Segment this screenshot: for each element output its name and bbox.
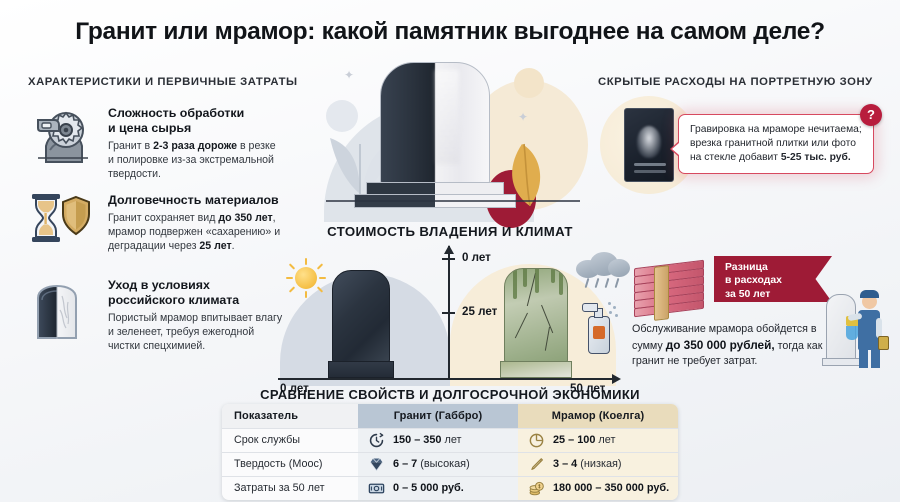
y-tick-label-0: 0 лет bbox=[462, 251, 491, 264]
page-title: Гранит или мрамор: какой памятник выгодн… bbox=[0, 18, 900, 46]
feature-block-climate-care: Уход в условиях российского климата Пори… bbox=[26, 276, 284, 353]
infographic-canvas: Гранит или мрамор: какой памятник выгодн… bbox=[0, 0, 900, 502]
value-bold: 180 000 – 350 000 руб. bbox=[553, 482, 669, 494]
row-marble-value: 25 – 100 лет bbox=[518, 428, 678, 452]
value-bold: 150 – 350 bbox=[393, 434, 441, 446]
sparkle-icon: ✦ bbox=[344, 68, 354, 82]
desc-part: Гранит сохраняет вид bbox=[108, 212, 218, 224]
engraved-portrait-icon bbox=[637, 126, 661, 158]
bucket-icon bbox=[878, 336, 889, 350]
desc-part: . bbox=[232, 240, 235, 252]
feature-desc: Гранит в 2-3 раза дороже в резке и полир… bbox=[108, 139, 284, 181]
y-tick-label-25: 25 лет bbox=[462, 305, 497, 318]
hero-monument-illustration: ✦ ✦ bbox=[318, 52, 588, 232]
desc-highlight: до 350 лет bbox=[218, 212, 272, 224]
portrait-granite-card bbox=[624, 108, 674, 182]
ownership-cost-chart: 0 лет 25 лет 0 лет 50 лет bbox=[272, 246, 624, 386]
table-col-header-granite: Гранит (Габбро) bbox=[358, 404, 518, 428]
callout-line-3: на стекле добавит bbox=[690, 152, 781, 163]
hidden-cost-callout: ? Гравировка на мраморе нечитаема; врезк… bbox=[678, 114, 874, 174]
cash-stack-icon bbox=[634, 262, 708, 320]
spray-label bbox=[593, 326, 605, 339]
row-label: Твердость (Моос) bbox=[222, 452, 358, 476]
engraved-text-line bbox=[634, 170, 666, 173]
y-tick-0 bbox=[442, 258, 455, 260]
callout-tail bbox=[670, 141, 679, 157]
difference-ribbon: Разница в расходах за 50 лет bbox=[714, 256, 832, 302]
sun-core bbox=[295, 267, 317, 289]
granite-base bbox=[328, 361, 394, 378]
feature-title: Долговечность материалов bbox=[108, 193, 284, 208]
table-col-header-marble: Мрамор (Коелга) bbox=[518, 404, 678, 428]
clock-icon bbox=[368, 432, 385, 449]
monument-stele bbox=[380, 62, 490, 184]
ribbon-line-2: в расходах bbox=[725, 274, 816, 287]
comparison-table: Показатель Гранит (Габбро) Мрамор (Коелг… bbox=[222, 404, 678, 500]
hourglass-shield-icon bbox=[26, 191, 98, 253]
feature-title: Уход в условиях российского климата bbox=[108, 278, 284, 308]
coins-icon bbox=[528, 480, 545, 497]
worker-cleaning-illustration bbox=[826, 284, 892, 370]
diamond-icon bbox=[368, 456, 385, 473]
y-tick-25 bbox=[442, 312, 455, 314]
spray-bottle-icon bbox=[584, 300, 618, 356]
worker-leg-right bbox=[871, 348, 880, 368]
desc-part: Гранит в bbox=[108, 140, 153, 152]
spray-trigger bbox=[582, 303, 598, 312]
feature-block-durability: Долговечность материалов Гранит сохраняе… bbox=[26, 191, 284, 253]
worker-arm-right bbox=[876, 318, 882, 338]
rain-cloud-icon bbox=[576, 250, 632, 284]
marble-stele-degraded bbox=[504, 268, 568, 362]
granite-monument-graphic bbox=[328, 270, 394, 380]
cash-band bbox=[654, 265, 669, 321]
marble-monument-graphic bbox=[500, 268, 572, 380]
hero-monument bbox=[380, 62, 490, 202]
row-granite-value: 150 – 350 лет bbox=[358, 428, 518, 452]
chart-x-axis bbox=[278, 378, 618, 380]
feature-block-processing: Сложность обработки и цена сырья Гранит … bbox=[26, 104, 284, 181]
value-bold: 25 – 100 bbox=[553, 434, 595, 446]
chart-title: СТОИМОСТЬ ВЛАДЕНИЯ И КЛИМАТ bbox=[270, 224, 630, 239]
section-header-characteristics: ХАРАКТЕРИСТИКИ И ПЕРВИЧНЫЕ ЗАТРАТЫ bbox=[28, 76, 298, 88]
ribbon-line-1: Разница bbox=[725, 261, 816, 274]
callout-highlight: 5-25 тыс. руб. bbox=[781, 152, 851, 163]
table-col-header-metric: Показатель bbox=[222, 404, 358, 428]
pencil-icon bbox=[528, 456, 545, 473]
ground-line bbox=[326, 200, 580, 202]
value-bold: 3 – 4 bbox=[553, 458, 577, 470]
stone-base bbox=[822, 358, 860, 366]
desc-highlight: 2-3 раза дороже bbox=[153, 140, 237, 152]
row-marble-value: 180 000 – 350 000 руб. bbox=[518, 476, 678, 500]
ribbon-line-3: за 50 лет bbox=[725, 288, 816, 301]
money-text-highlight: до 350 000 рублей, bbox=[666, 338, 775, 352]
value-bold: 0 – 5 000 руб. bbox=[393, 482, 464, 494]
desc-highlight: 25 лет bbox=[199, 240, 231, 252]
value-tail: лет bbox=[595, 434, 615, 446]
granite-stele bbox=[332, 270, 390, 362]
row-label: Срок службы bbox=[222, 428, 358, 452]
table-header-row: Показатель Гранит (Габбро) Мрамор (Коелг… bbox=[222, 404, 678, 428]
row-label: Затраты за 50 лет bbox=[222, 476, 358, 500]
marble-base-degraded bbox=[500, 361, 572, 378]
water-streak bbox=[846, 326, 858, 340]
engraved-text-line bbox=[634, 163, 666, 166]
maintenance-cost-text: Обслуживание мрамора обойдется в сумму д… bbox=[632, 322, 828, 370]
row-granite-value: 0 – 5 000 руб. bbox=[358, 476, 518, 500]
table-row: Твердость (Моос) 6 – 7 (высокая) bbox=[222, 452, 678, 476]
section-header-hidden-costs: СКРЫТЫЕ РАСХОДЫ НА ПОРТРЕТНУЮ ЗОНУ bbox=[598, 76, 873, 88]
value-tail: (низкая) bbox=[577, 458, 621, 470]
decor-dot-cream bbox=[514, 68, 544, 98]
value-tail: лет bbox=[441, 434, 461, 446]
callout-text: Гравировка на мраморе нечитаема; врезка … bbox=[690, 123, 864, 165]
row-marble-value: 3 – 4 (низкая) bbox=[518, 452, 678, 476]
callout-line-2: врезка гранитной плитки или фото bbox=[690, 138, 856, 149]
callout-line-1: Гравировка на мраморе нечитаема; bbox=[690, 124, 862, 135]
feature-title: Сложность обработки и цена сырья bbox=[108, 106, 284, 136]
value-bold: 6 – 7 bbox=[393, 458, 417, 470]
worker-cap bbox=[860, 290, 879, 298]
table-row: Затраты за 50 лет 0 – 5 000 руб. bbox=[222, 476, 678, 500]
worker-leg-left bbox=[859, 348, 868, 368]
value-tail: (высокая) bbox=[417, 458, 469, 470]
clock-pie-icon bbox=[528, 432, 545, 449]
feature-desc: Пористый мрамор впитывает влагу и зелене… bbox=[108, 311, 284, 353]
circular-saw-icon bbox=[26, 104, 98, 166]
feature-desc: Гранит сохраняет вид до 350 лет, мрамор … bbox=[108, 211, 284, 253]
table-row: Срок службы 150 – 350 лет bbox=[222, 428, 678, 452]
sun-icon bbox=[286, 258, 326, 298]
row-granite-value: 6 – 7 (высокая) bbox=[358, 452, 518, 476]
question-badge-icon: ? bbox=[860, 104, 882, 126]
banknote-icon bbox=[368, 480, 385, 497]
sparkle-icon: ✦ bbox=[518, 110, 528, 124]
table-title: СРАВНЕНИЕ СВОЙСТВ И ДОЛГОСРОЧНОЙ ЭКОНОМИ… bbox=[222, 387, 678, 402]
two-tone-monument-icon bbox=[26, 276, 98, 338]
